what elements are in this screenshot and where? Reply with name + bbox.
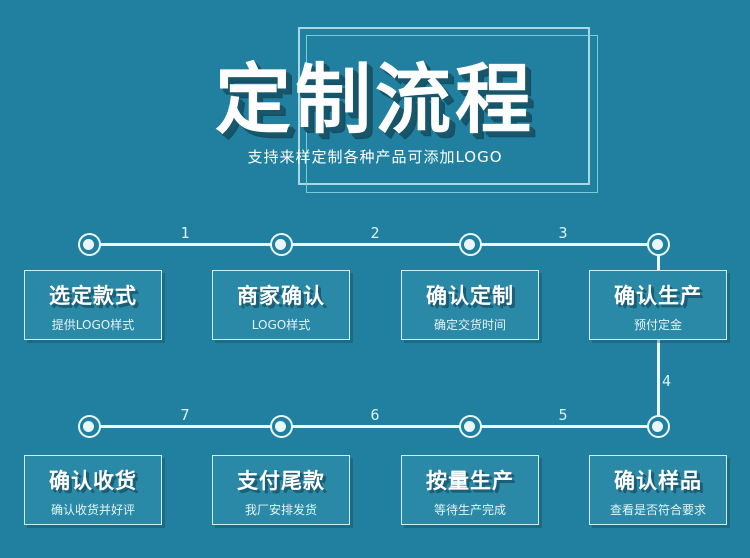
flow-card-6[interactable]: 支付尾款 我厂安排发货	[212, 455, 350, 525]
flow-card-title: 选定款式	[25, 280, 161, 310]
title-block: 定制流程 支持来样定制各种产品可添加LOGO	[0, 58, 750, 167]
flow-card-desc: 预付定金	[590, 316, 726, 333]
flow-card-desc: 我厂安排发货	[213, 501, 349, 518]
page-subtitle: 支持来样定制各种产品可添加LOGO	[0, 146, 750, 167]
flow-node-marker-5[interactable]	[459, 415, 482, 438]
flow-row-bottom: 7 6 5 确认收货 确认收货并好评 支付尾款 我厂安排发货 按量生产 等待生产…	[0, 412, 750, 537]
flow-node-marker-3[interactable]	[459, 233, 482, 256]
flow-card-desc: 查看是否符合要求	[590, 501, 726, 518]
vertical-step-number: 4	[662, 372, 671, 390]
flow-card-3[interactable]: 确认定制 确定交货时间	[401, 270, 539, 340]
flow-node-marker-4[interactable]	[647, 233, 670, 256]
flow-card-desc: LOGO样式	[213, 316, 349, 333]
flow-card-title: 确认样品	[590, 465, 726, 495]
flow-node-marker-1[interactable]	[78, 233, 101, 256]
step-number-1: 1	[165, 224, 205, 242]
flow-card-desc: 确认收货并好评	[25, 501, 161, 518]
flow-card-title: 支付尾款	[213, 465, 349, 495]
poster-header: 定制流程 支持来样定制各种产品可添加LOGO	[0, 0, 750, 215]
page-title: 定制流程	[0, 58, 750, 142]
flow-card-1[interactable]: 选定款式 提供LOGO样式	[24, 270, 162, 340]
step-number-3: 3	[543, 224, 583, 242]
step-number-6: 6	[355, 406, 395, 424]
connector-track-top	[89, 243, 658, 246]
flow-card-desc: 提供LOGO样式	[25, 316, 161, 333]
flow-card-title: 按量生产	[402, 465, 538, 495]
flow-card-4[interactable]: 确认生产 预付定金	[589, 270, 727, 340]
flow-card-5[interactable]: 按量生产 等待生产完成	[401, 455, 539, 525]
flow-card-2[interactable]: 商家确认 LOGO样式	[212, 270, 350, 340]
flow-node-marker-6[interactable]	[270, 415, 293, 438]
flow-row-top: 1 2 3 选定款式 提供LOGO样式 商家确认 LOGO样式 确认定制 确定交…	[0, 230, 750, 350]
flow-card-title: 确认定制	[402, 280, 538, 310]
connector-track-bottom	[89, 425, 658, 428]
flow-card-7[interactable]: 确认收货 确认收货并好评	[24, 455, 162, 525]
flow-card-8[interactable]: 确认样品 查看是否符合要求	[589, 455, 727, 525]
step-number-7: 7	[165, 406, 205, 424]
flow-card-title: 确认收货	[25, 465, 161, 495]
step-number-5: 5	[543, 406, 583, 424]
flow-card-title: 确认生产	[590, 280, 726, 310]
step-number-2: 2	[355, 224, 395, 242]
flow-node-marker-8[interactable]	[647, 415, 670, 438]
flow-card-title: 商家确认	[213, 280, 349, 310]
flow-node-marker-7[interactable]	[78, 415, 101, 438]
flow-card-desc: 确定交货时间	[402, 316, 538, 333]
flow-card-desc: 等待生产完成	[402, 501, 538, 518]
customization-process-poster: 定制流程 支持来样定制各种产品可添加LOGO 4 1 2 3 选定款式 提供LO…	[0, 0, 750, 558]
flow-node-marker-2[interactable]	[270, 233, 293, 256]
